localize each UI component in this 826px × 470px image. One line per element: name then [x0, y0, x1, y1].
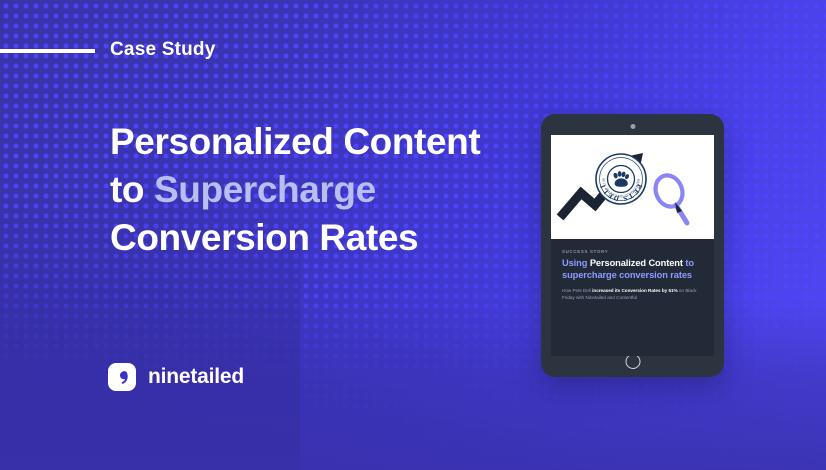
card-subtitle-part-1: How Pets Deli — [562, 288, 592, 293]
tablet-device-mockup: PETS DELI SEIT 2013 FAMILIENBETRIEB — [541, 114, 724, 377]
ninetailed-comma-icon — [108, 363, 136, 391]
card-text-block: SUCCESS STORY Using Personalized Content… — [551, 239, 714, 301]
card-title-part-2: Personalized Content — [590, 258, 683, 268]
brand-name: ninetailed — [148, 365, 244, 389]
card-title: Using Personalized Content to supercharg… — [562, 258, 703, 281]
card-kicker: SUCCESS STORY — [562, 249, 703, 254]
tablet-screen: PETS DELI SEIT 2013 FAMILIENBETRIEB — [551, 135, 714, 356]
pets-deli-badge: PETS DELI SEIT 2013 FAMILIENBETRIEB — [596, 154, 647, 205]
home-button-icon[interactable] — [625, 354, 640, 369]
eyebrow-rule — [0, 49, 95, 53]
brand-logo: ninetailed — [108, 363, 244, 391]
card-title-part-1: Using — [562, 258, 590, 268]
case-study-hero-banner: Case Study Personalized Content to Super… — [0, 0, 826, 470]
headline-line-1: Personalized Content — [110, 121, 480, 162]
magnifying-glass-icon — [651, 171, 687, 223]
headline-line-2-prefix: to — [110, 169, 154, 210]
headline-accent-word: Supercharge — [154, 169, 376, 210]
page-title: Personalized Content to Supercharge Conv… — [110, 118, 540, 262]
eyebrow-label: Case Study — [110, 39, 215, 61]
camera-dot-icon — [630, 124, 635, 129]
headline-line-3: Conversion Rates — [110, 217, 418, 258]
card-hero-illustration: PETS DELI SEIT 2013 FAMILIENBETRIEB — [551, 135, 714, 239]
card-subtitle-bold: increased its Conversion Rates by 51% — [592, 288, 678, 293]
card-subtitle: How Pets Deli increased its Conversion R… — [562, 288, 703, 301]
